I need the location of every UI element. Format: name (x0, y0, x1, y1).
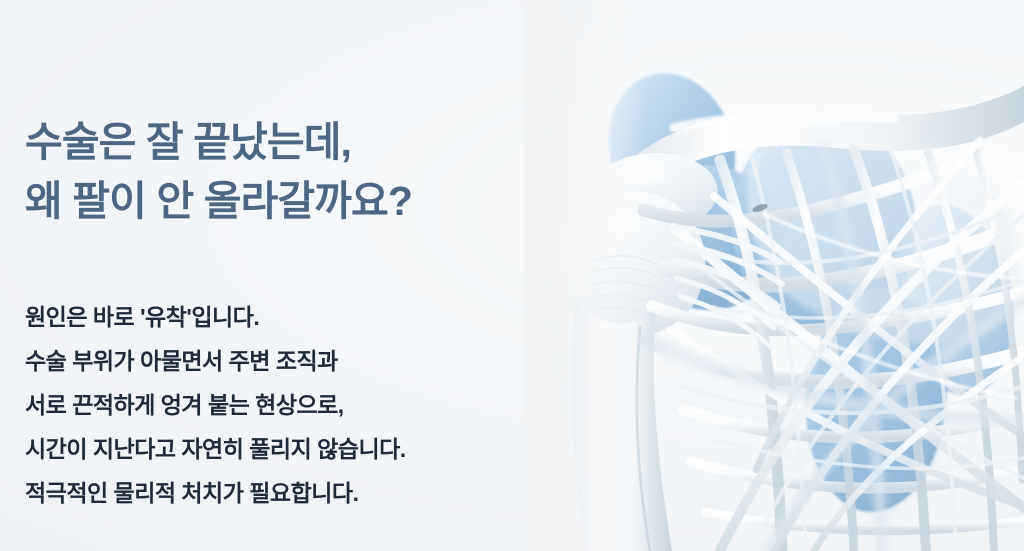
text-column: 수술은 잘 끝났는데, 왜 팔이 안 올라갈까요? 원인은 바로 '유착'입니다… (25, 0, 545, 551)
body-line-2: 수술 부위가 아물면서 주변 조직과 (25, 339, 545, 383)
body-line-5: 적극적인 물리적 처치가 필요합니다. (25, 471, 545, 515)
body-line-4: 시간이 지난다고 자연히 풀리지 않습니다. (25, 427, 545, 471)
body-line-3: 서로 끈적하게 엉겨 붙는 현상으로, (25, 383, 545, 427)
headline-line-1: 수술은 잘 끝났는데, (25, 113, 545, 171)
adhesion-info-banner: 수술은 잘 끝났는데, 왜 팔이 안 올라갈까요? 원인은 바로 '유착'입니다… (0, 0, 1024, 551)
body-line-1: 원인은 바로 '유착'입니다. (25, 295, 545, 339)
page-title: 수술은 잘 끝났는데, 왜 팔이 안 올라갈까요? (25, 113, 545, 229)
headline-line-2: 왜 팔이 안 올라갈까요? (25, 172, 545, 230)
shoulder-anatomy-illustration (524, 0, 1024, 551)
body-copy: 원인은 바로 '유착'입니다. 수술 부위가 아물면서 주변 조직과 서로 끈적… (25, 295, 545, 515)
